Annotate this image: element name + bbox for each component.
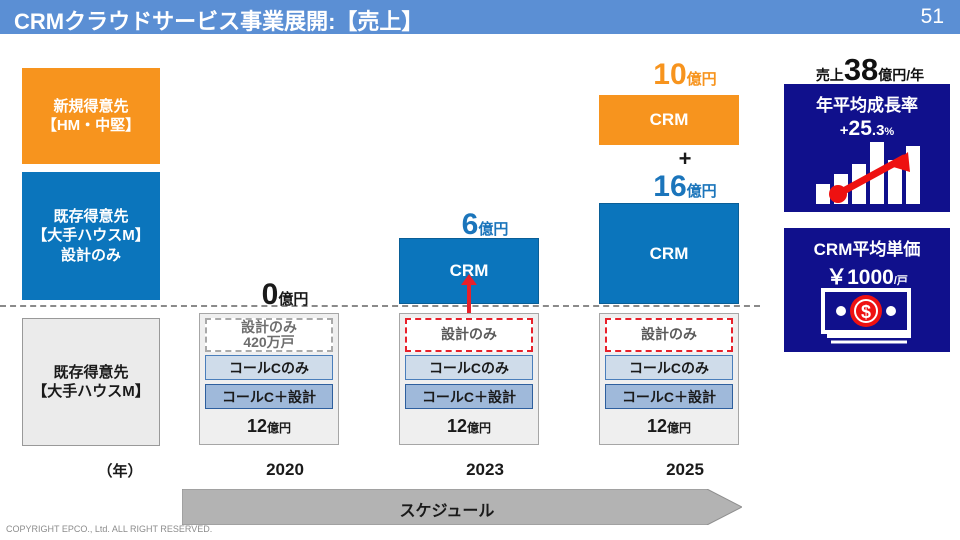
- stack-2023: 設計のみ コールCのみ コールC＋設計 12億円: [399, 313, 539, 445]
- crm-bar-2025-orange: CRM: [599, 95, 739, 145]
- legend-existing-customer: 既存得意先 【大手ハウスM】: [22, 318, 160, 446]
- segment-call-plus-design-2025: コールC＋設計: [605, 384, 733, 409]
- legend-new-customer-line1: 新規得意先: [53, 98, 128, 115]
- sales-total-prefix: 売上: [816, 67, 844, 83]
- panel-average-price: CRM平均単価 ￥1000/戸 $: [784, 228, 950, 352]
- segment-design-only-2023: 設計のみ: [405, 318, 533, 352]
- schedule-label: スケジュール: [182, 497, 712, 521]
- svg-text:$: $: [861, 302, 871, 322]
- sales-total-label: 売上38億円/年: [786, 52, 954, 88]
- crm-value-label-2020: 0億円: [185, 278, 385, 312]
- crm-value-label-2025-orange: 10億円: [585, 58, 785, 92]
- legend-new-customer: 新規得意先 【HM・中堅】: [22, 68, 160, 164]
- sales-total-suffix: 億円/年: [878, 67, 924, 83]
- legend-existing-line2: 【大手ハウスM】: [32, 383, 150, 400]
- legend-existing-customer-design: 既存得意先 【大手ハウスM】 設計のみ: [22, 172, 160, 300]
- banknote-dollar-icon: $: [784, 286, 950, 346]
- red-arrow-head-2023: [461, 274, 477, 285]
- year-label-2020: 2020: [185, 460, 385, 480]
- year-label-2025: 2025: [585, 460, 785, 480]
- stack-2025: 設計のみ コールCのみ コールC＋設計 12億円: [599, 313, 739, 445]
- segment-design-only-sub-2020: 420万戸: [243, 335, 294, 350]
- year-axis-caption: （年）: [80, 460, 160, 481]
- legend-existing-line1: 既存得意先: [53, 364, 128, 381]
- column-2020: 0億円 設計のみ 420万戸 コールCのみ コールC＋設計 12億円 2020: [185, 0, 385, 540]
- bar-chart-growth-icon: [784, 136, 950, 206]
- sales-total-amount: 38: [844, 52, 878, 87]
- slide-root: CRMクラウドサービス事業展開:【売上】 51 新規得意先 【HM・中堅】 既存…: [0, 0, 960, 540]
- segment-total-2025: 12億円: [605, 411, 733, 441]
- legend-new-customer-line2: 【HM・中堅】: [42, 117, 140, 134]
- column-2025: 10億円 CRM + 16億円 CRM 設計のみ コールCのみ コールC＋設計 …: [585, 0, 785, 540]
- legend-existing-design-line1: 既存得意先: [53, 208, 128, 225]
- segment-design-only-2020: 設計のみ 420万戸: [205, 318, 333, 352]
- column-2023: 6億円 CRM 設計のみ コールCのみ コールC＋設計 12億円 2023: [385, 0, 585, 540]
- segment-call-only-2023: コールCのみ: [405, 355, 533, 380]
- page-number: 51: [921, 5, 944, 29]
- legend-existing-design-line2: 【大手ハウスM】: [32, 227, 150, 244]
- segment-call-only-2025: コールCのみ: [605, 355, 733, 380]
- segment-call-only-2020: コールCのみ: [205, 355, 333, 380]
- legend-existing-design-line3: 設計のみ: [61, 247, 121, 264]
- segment-design-only-2025: 設計のみ: [605, 318, 733, 352]
- stack-2020: 設計のみ 420万戸 コールCのみ コールC＋設計 12億円: [199, 313, 339, 445]
- crm-bar-2025-blue: CRM: [599, 203, 739, 304]
- segment-total-2023: 12億円: [405, 411, 533, 441]
- segment-call-plus-design-2023: コールC＋設計: [405, 384, 533, 409]
- year-label-2023: 2023: [385, 460, 585, 480]
- segment-total-2020: 12億円: [205, 411, 333, 441]
- crm-value-label-2025-blue: 16億円: [585, 170, 785, 204]
- panel-growth-rate: 年平均成長率 +25.3%: [784, 84, 950, 212]
- crm-value-label-2023: 6億円: [385, 208, 585, 242]
- panel-growth-title: 年平均成長率: [784, 91, 950, 116]
- plus-sign-2025: +: [585, 146, 785, 172]
- panel-price-title: CRM平均単価: [784, 235, 950, 260]
- copyright-notice: COPYRIGHT EPCO., Ltd. ALL RIGHT RESERVED…: [6, 524, 212, 534]
- segment-call-plus-design-2020: コールC＋設計: [205, 384, 333, 409]
